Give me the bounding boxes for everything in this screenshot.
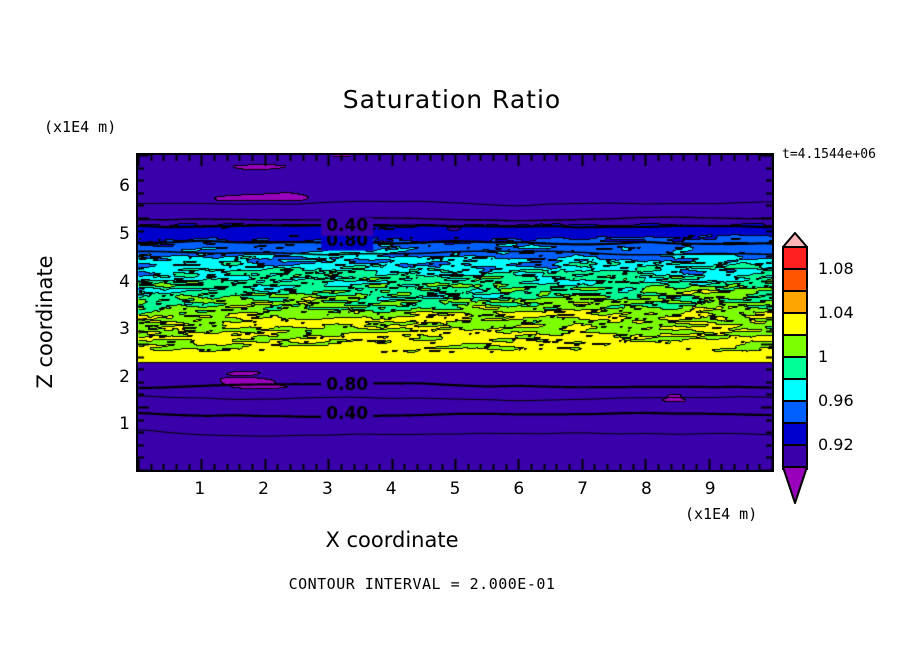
colorbar-band-2 [784,292,806,314]
colorbar-band-0 [784,248,806,270]
colorbar-band-4 [784,336,806,358]
x-tick-label-4: 4 [376,479,406,499]
colorbar-band-7 [784,402,806,424]
y-tick-label-1: 1 [104,414,130,434]
y-axis-title: Z coordinate [33,242,57,402]
contour-plot-area[interactable] [136,153,774,472]
x-tick-label-2: 2 [249,479,279,499]
colorbar-label-0.96: 0.96 [818,391,854,410]
colorbar-label-1.08: 1.08 [818,259,854,278]
colorbar-band-9 [784,446,806,468]
colorbar-band-6 [784,380,806,402]
colorbar[interactable]: 1.081.0410.960.92 [782,232,882,522]
page-title: Saturation Ratio [0,85,904,114]
y-axis-unit-label: (x1E4 m) [44,118,116,136]
x-tick-label-3: 3 [312,479,342,499]
colorbar-band-1 [784,270,806,292]
x-tick-label-7: 7 [568,479,598,499]
y-tick-label-5: 5 [104,224,130,244]
contour-field-canvas [138,155,772,470]
x-tick-label-1: 1 [185,479,215,499]
y-axis: 123456 [100,153,130,472]
x-tick-label-8: 8 [631,479,661,499]
x-axis-title: X coordinate [0,528,904,552]
colorbar-label-0.92: 0.92 [818,435,854,454]
colorbar-band-8 [784,424,806,446]
x-axis: 123456789 [136,479,774,505]
x-tick-label-5: 5 [440,479,470,499]
contour-interval-caption: CONTOUR INTERVAL = 2.000E-01 [0,575,904,593]
x-tick-label-6: 6 [504,479,534,499]
colorbar-bands [782,246,808,470]
y-tick-label-3: 3 [104,319,130,339]
colorbar-band-3 [784,314,806,336]
colorbar-label-1.04: 1.04 [818,303,854,322]
x-axis-unit-label: (x1E4 m) [685,505,757,523]
colorbar-band-5 [784,358,806,380]
y-tick-label-6: 6 [104,176,130,196]
y-tick-label-4: 4 [104,272,130,292]
colorbar-under-arrow [782,466,808,504]
colorbar-label-1: 1 [818,347,828,366]
x-tick-label-9: 9 [695,479,725,499]
timestamp-label: t=4.1544e+06 [782,147,876,162]
y-tick-label-2: 2 [104,367,130,387]
